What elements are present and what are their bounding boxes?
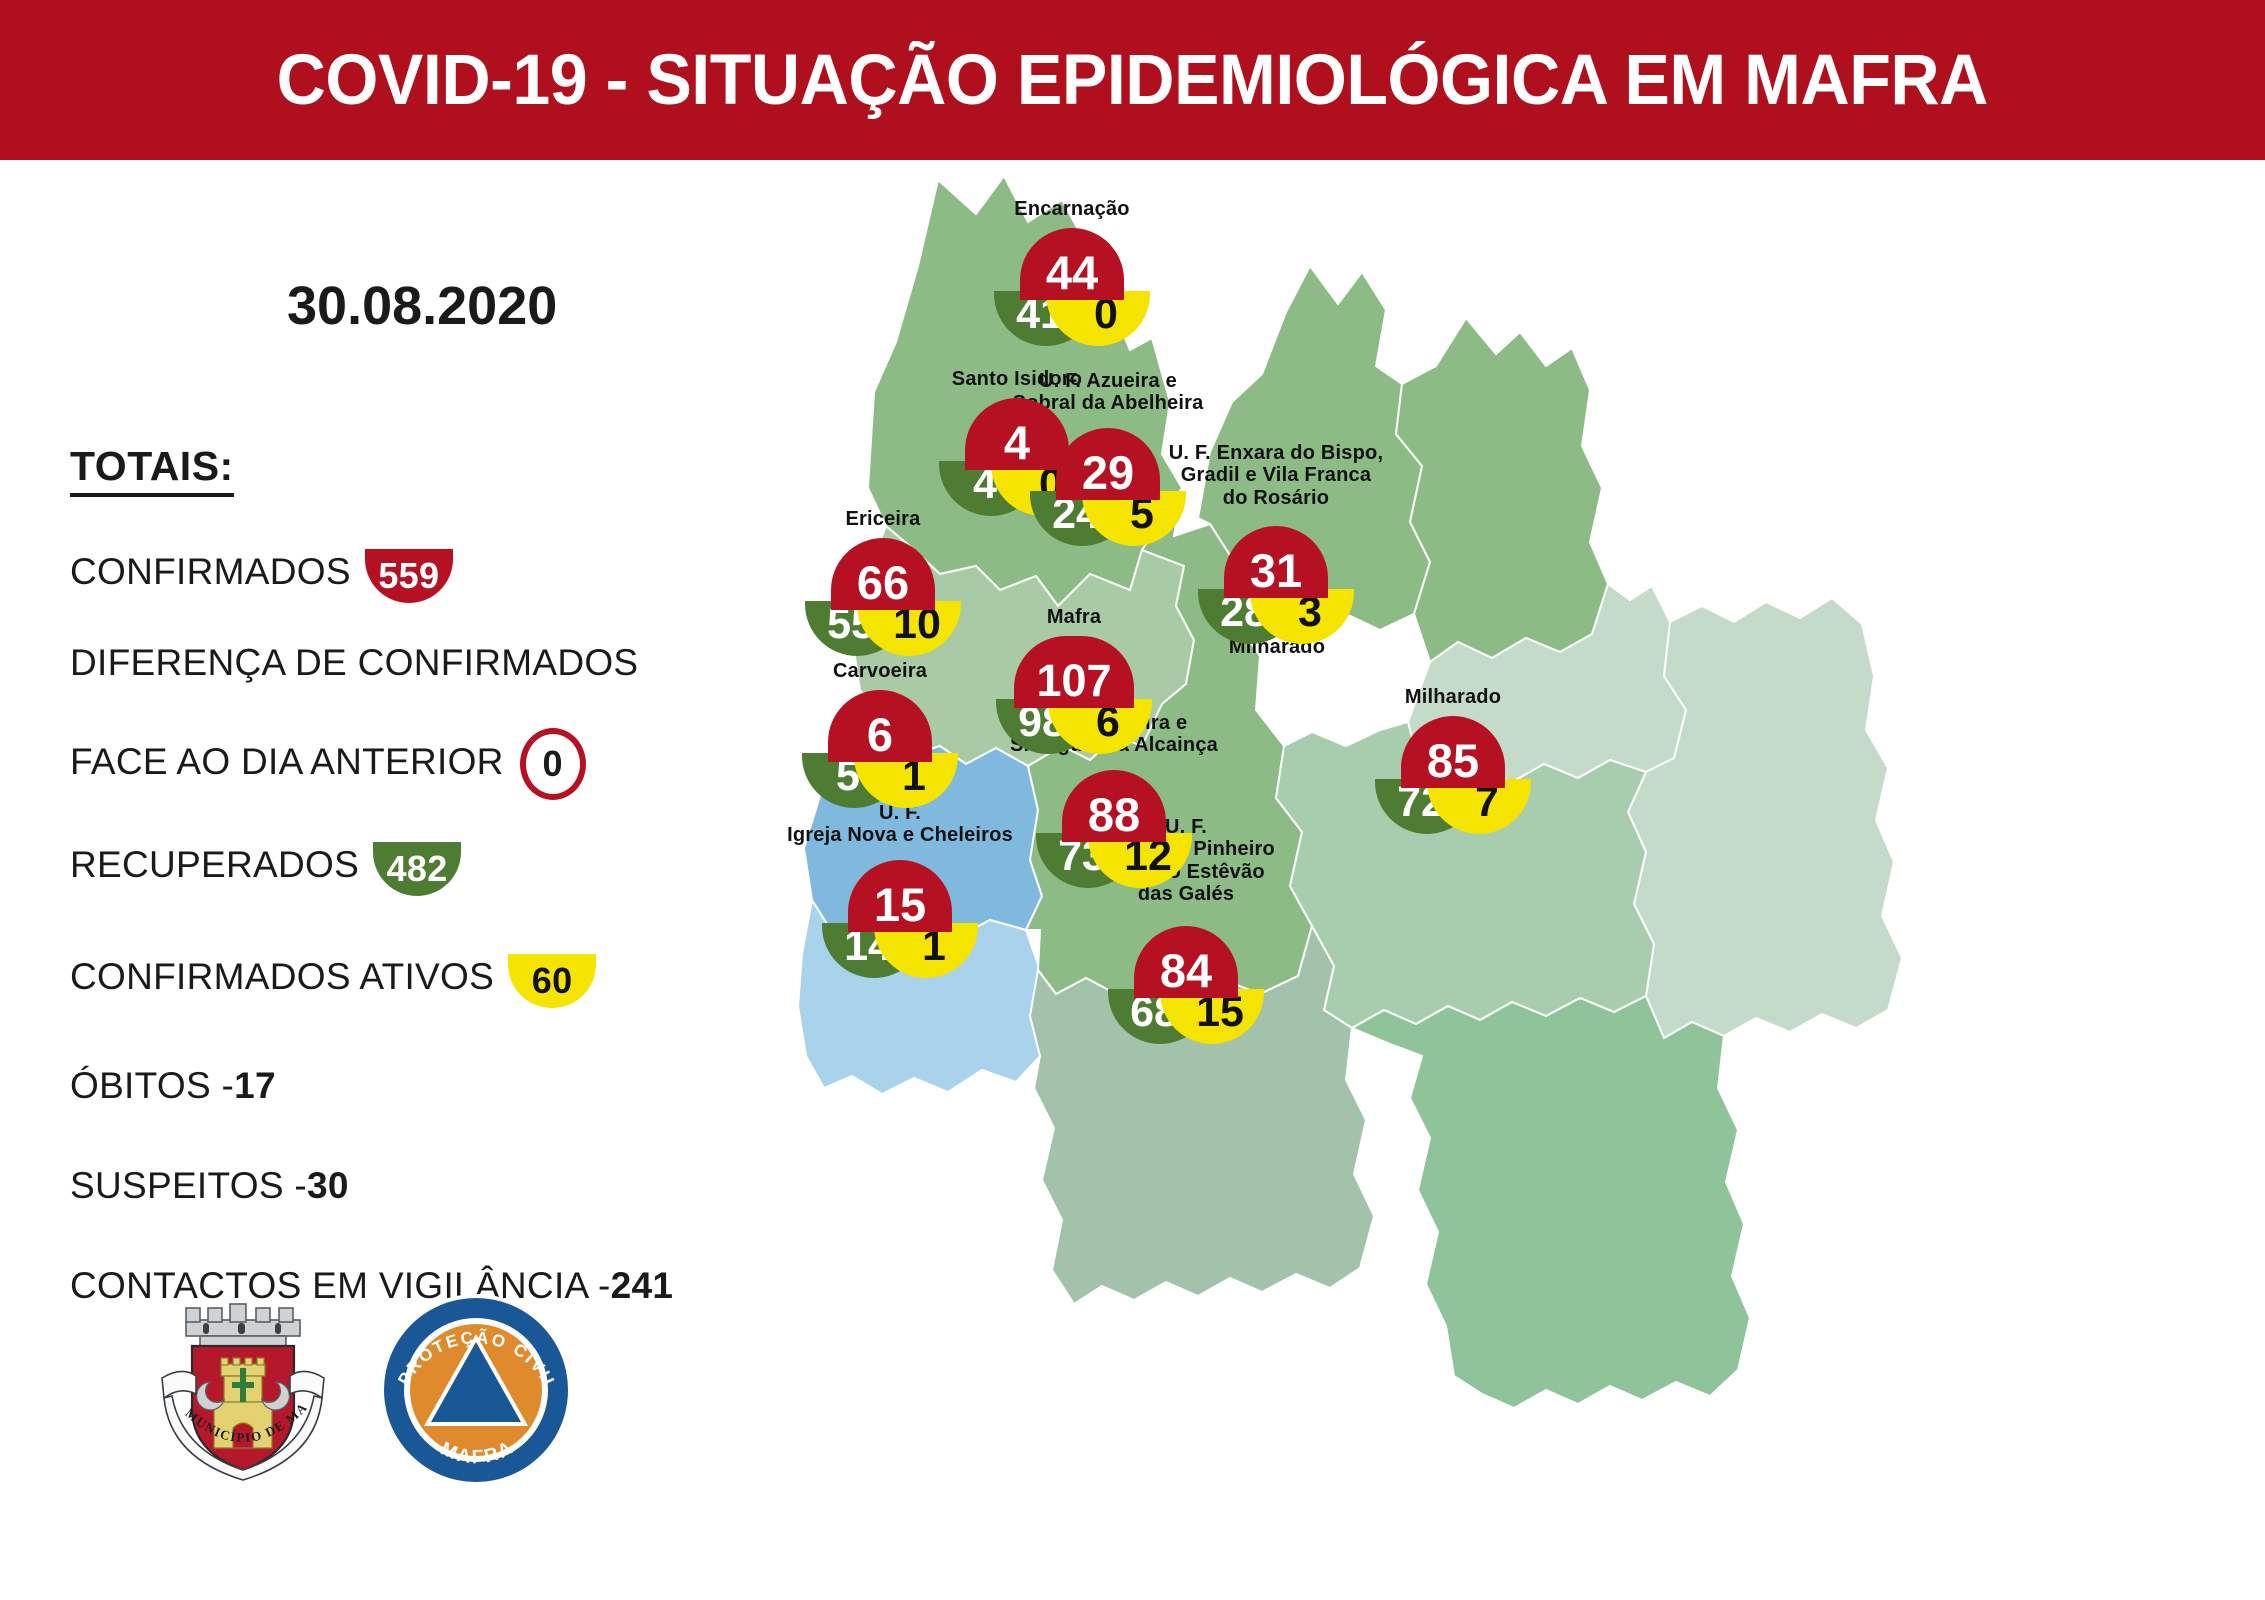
label-enxara-gradil: U. F. Enxara do Bispo, Gradil e Vila Fra… <box>1169 442 1383 509</box>
report-date: 30.08.2020 <box>287 275 557 337</box>
stat-label-ativos: CONFIRMADOS ATIVOS <box>70 956 494 998</box>
page-title: COVID-19 - SITUAÇÃO EPIDEMIOLÓGICA EM MA… <box>277 40 1988 121</box>
stat-value-diferenca: 0 <box>520 728 586 800</box>
badge-confirmed-encarnacao: 44 <box>1020 228 1124 300</box>
region-enxara-gradil[interactable] <box>1396 318 1608 662</box>
label-milharado: Milharado <box>1405 686 1501 708</box>
badge-encarnacao[interactable]: 44 41 0 <box>994 228 1150 346</box>
badge-malveira-smiguel[interactable]: 88 73 12 <box>1036 770 1192 888</box>
badge-carvoeira[interactable]: 6 5 1 <box>802 690 958 808</box>
stat-value-obitos: 17 <box>234 1065 276 1107</box>
label-ericeira: Ericeira <box>846 508 921 530</box>
badge-confirmed-venda-pinheiro: 84 <box>1134 926 1238 998</box>
stat-row-diferenca-line1: DIFERENÇA DE CONFIRMADOS <box>70 642 638 684</box>
badge-confirmed-igreja-nova: 15 <box>848 860 952 932</box>
label-igreja-nova: U. F. Igreja Nova e Cheleiros <box>787 802 1013 847</box>
protecao-civil-mafra-logo: PROTEÇÃO CIVIL MAFRA <box>376 1290 576 1490</box>
stat-row-suspeitos: SUSPEITOS - 30 <box>70 1165 349 1207</box>
stat-row-diferenca-line2: FACE AO DIA ANTERIOR 0 <box>70 726 586 798</box>
infographic-page: COVID-19 - SITUAÇÃO EPIDEMIOLÓGICA EM MA… <box>0 0 2265 1600</box>
region-milharado[interactable] <box>1628 598 1902 1038</box>
label-carvoeira: Carvoeira <box>833 660 927 682</box>
municipio-de-mafra-coat-of-arms: MUNICÍPIO DE MAFRA <box>148 1290 338 1490</box>
stat-row-recuperados: RECUPERADOS 482 <box>70 838 461 892</box>
badge-milharado[interactable]: 85 72 7 <box>1375 716 1531 834</box>
stat-row-obitos: ÓBITOS - 17 <box>70 1065 276 1107</box>
stat-value-confirmados: 559 <box>365 549 453 603</box>
stat-row-ativos: CONFIRMADOS ATIVOS 60 <box>70 950 596 1004</box>
stat-label-suspeitos: SUSPEITOS - <box>70 1165 307 1207</box>
badge-confirmed-ericeira: 66 <box>831 538 935 610</box>
badge-confirmed-malveira-smiguel: 88 <box>1062 770 1166 842</box>
badge-venda-pinheiro[interactable]: 84 68 15 <box>1108 926 1264 1044</box>
stat-label-diferenca-line1: DIFERENÇA DE CONFIRMADOS <box>70 642 638 684</box>
badge-confirmed-azueira-sobral: 29 <box>1056 428 1160 500</box>
badge-azueira-sobral[interactable]: 29 24 5 <box>1030 428 1186 546</box>
stat-value-recuperados: 482 <box>373 842 461 896</box>
label-encarnacao: Encarnação <box>1014 198 1129 220</box>
footer-logos: MUNICÍPIO DE MAFRA PROTEÇÃO CIVIL <box>148 1290 576 1490</box>
region-venda-pinheiro[interactable] <box>1352 996 1750 1408</box>
stat-label-diferenca-line2: FACE AO DIA ANTERIOR <box>70 741 504 783</box>
mafra-municipality-map: Encarnação Santo Isidoro Ericeira Carvoe… <box>790 170 2265 1600</box>
badge-confirmed-mafra: 107 <box>1014 636 1134 708</box>
label-mafra: Mafra <box>1047 606 1101 628</box>
badge-ericeira[interactable]: 66 55 10 <box>805 538 961 656</box>
stat-label-recuperados: RECUPERADOS <box>70 844 359 886</box>
stat-label-obitos: ÓBITOS - <box>70 1065 234 1107</box>
stat-value-ativos: 60 <box>508 954 596 1008</box>
badge-enxara-gradil[interactable]: 31 28 3 <box>1198 526 1354 644</box>
badge-confirmed-enxara-gradil: 31 <box>1224 526 1328 598</box>
stat-row-confirmados: CONFIRMADOS 559 <box>70 545 453 599</box>
totals-heading: TOTAIS: <box>70 443 234 497</box>
stat-value-contactos: 241 <box>611 1265 674 1307</box>
stat-label-confirmados: CONFIRMADOS <box>70 551 351 593</box>
badge-confirmed-carvoeira: 6 <box>828 690 932 762</box>
stat-value-suspeitos: 30 <box>307 1165 349 1207</box>
summary-panel: 30.08.2020 TOTAIS: CONFIRMADOS 559 DIFER… <box>0 160 840 1600</box>
page-header: COVID-19 - SITUAÇÃO EPIDEMIOLÓGICA EM MA… <box>0 0 2265 160</box>
badge-igreja-nova[interactable]: 15 14 1 <box>822 860 978 978</box>
badge-confirmed-milharado: 85 <box>1401 716 1505 788</box>
badge-mafra[interactable]: 107 98 6 <box>996 636 1152 754</box>
